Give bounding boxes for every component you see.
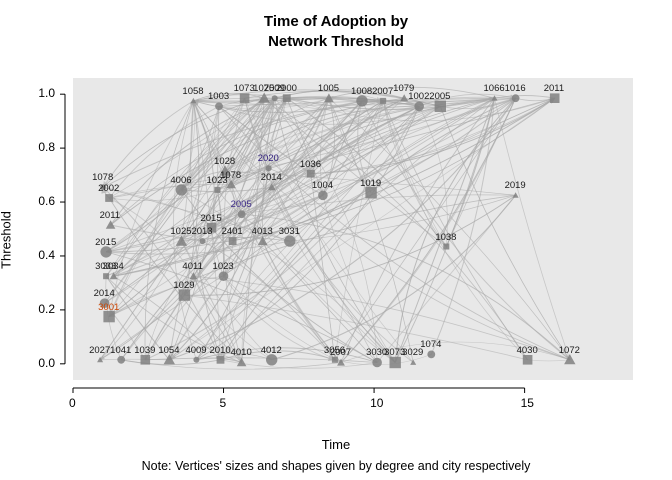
point-label: 2015	[95, 237, 116, 248]
point-label: 2015	[200, 213, 221, 224]
point-label: 2007	[330, 347, 351, 358]
point-label: 1039	[134, 345, 155, 356]
x-tick-label: 0	[69, 396, 76, 410]
point-label: 2000	[276, 83, 297, 94]
point-label: 2014	[261, 172, 282, 183]
point-label: 1029	[173, 280, 194, 291]
point-label: 4013	[252, 226, 273, 237]
point-label: 1008	[351, 86, 372, 97]
point-label: 1073	[234, 83, 255, 94]
point-label: 2011	[100, 210, 120, 221]
y-tick-label: 0.0	[29, 356, 55, 370]
point-label: 4011	[182, 261, 202, 272]
y-tick-label: 0.2	[29, 302, 55, 316]
point-label: 4006	[170, 175, 191, 186]
chart-root: Time of Adoption by Network Threshold Th…	[0, 0, 672, 480]
x-tick-label: 10	[370, 396, 383, 410]
point-label: 4030	[517, 345, 538, 356]
x-tick-label: 5	[220, 396, 227, 410]
point-label: 1025	[170, 226, 191, 237]
y-tick-label: 0.6	[29, 194, 55, 208]
point-label: 1003	[208, 91, 229, 102]
point-label: 1016	[505, 83, 526, 94]
point-label: 1036	[300, 159, 321, 170]
point-label: 1078	[92, 172, 113, 183]
point-label: 4012	[261, 345, 282, 356]
point-label: 3031	[279, 226, 300, 237]
point-label: 1038	[435, 232, 456, 243]
point-label: 2013	[191, 226, 212, 237]
point-label: 1004	[312, 180, 333, 191]
point-label: 2005	[429, 91, 450, 102]
point-label: 4009	[185, 345, 206, 356]
y-tick-label: 1.0	[29, 86, 55, 100]
y-axis-label: Threshold	[0, 211, 14, 269]
point-label: 1005	[318, 83, 339, 94]
point-label: 2010	[210, 345, 231, 356]
point-label: 1002	[408, 91, 429, 102]
point-label: 1074	[420, 339, 441, 350]
chart-title-line2: Network Threshold	[0, 32, 672, 52]
point-label: 2019	[505, 180, 526, 191]
point-label: 1041	[110, 345, 131, 356]
point-label: 2401	[222, 226, 243, 237]
point-label: 1019	[360, 178, 381, 189]
point-label: 3001	[98, 302, 119, 313]
y-tick-label: 0.8	[29, 140, 55, 154]
point-label: 4010	[231, 347, 252, 358]
y-tick-label: 0.4	[29, 248, 55, 262]
point-label: 1072	[559, 345, 580, 356]
point-label: 1028	[214, 156, 235, 167]
point-label: 3034	[103, 261, 124, 272]
point-label: 1058	[182, 86, 203, 97]
point-label: 2027	[89, 345, 110, 356]
point-label: 2005	[231, 199, 252, 210]
chart-title-line1: Time of Adoption by	[264, 13, 408, 30]
x-axis-label: Time	[0, 437, 672, 452]
point-label: 2014	[94, 288, 115, 299]
point-label: 1023	[207, 175, 228, 186]
point-label: 2002	[98, 183, 119, 194]
chart-title: Time of Adoption by Network Threshold	[0, 12, 672, 52]
plot-panel	[73, 78, 633, 380]
x-tick-label: 15	[521, 396, 534, 410]
chart-note: Note: Vertices' sizes and shapes given b…	[0, 459, 672, 473]
point-label: 1023	[213, 261, 234, 272]
point-label: 2020	[258, 153, 279, 164]
point-label: 1054	[158, 345, 179, 356]
point-label: 1066	[484, 83, 505, 94]
point-label: 2007	[372, 86, 393, 97]
point-label: 2011	[544, 83, 564, 94]
